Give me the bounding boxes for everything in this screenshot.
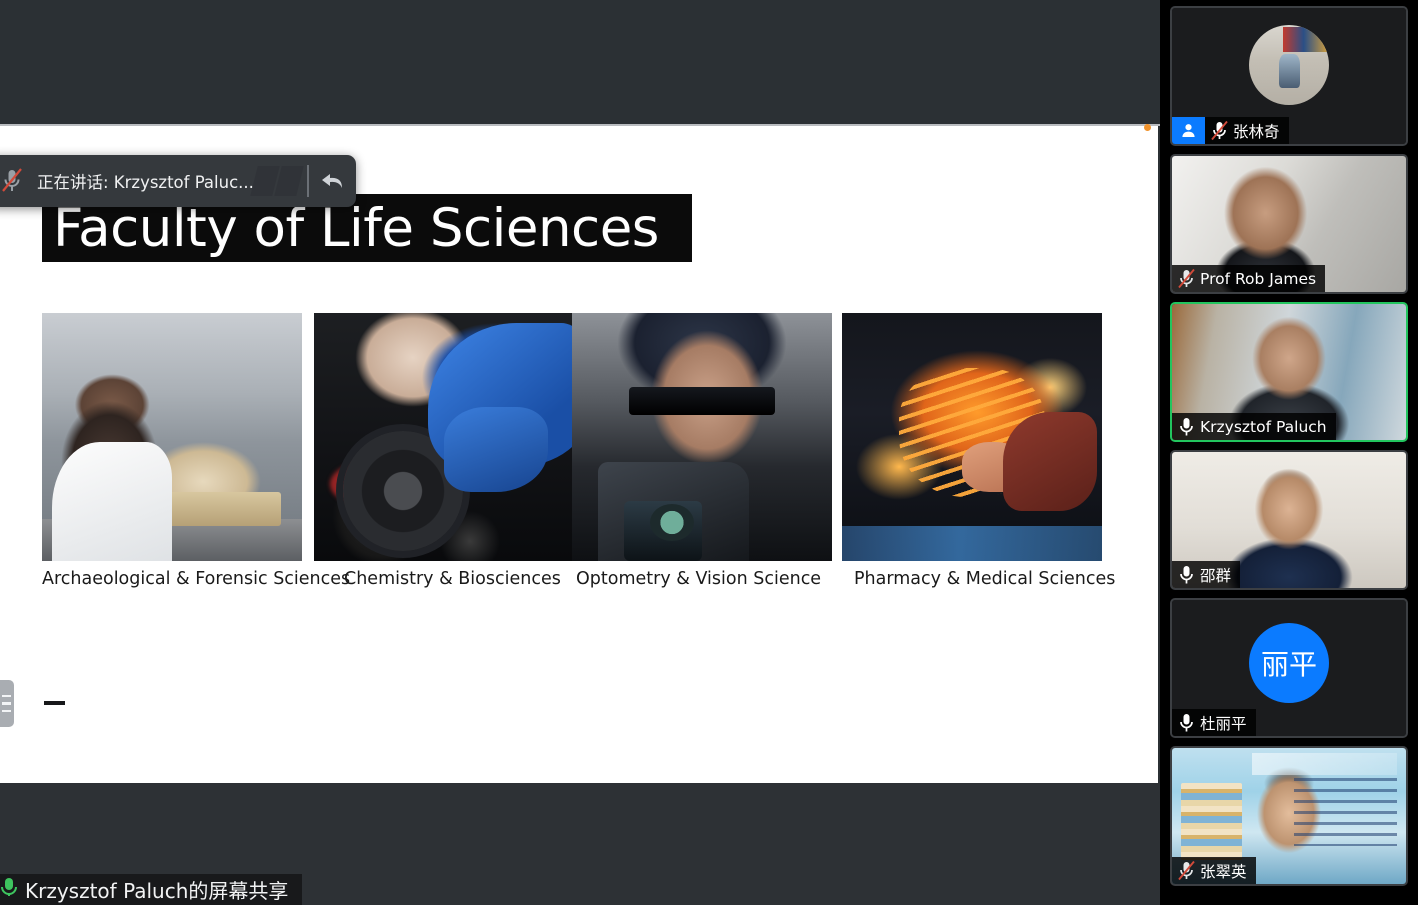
participant-name: Prof Rob James [1200, 270, 1316, 288]
mic-on-icon [1177, 712, 1196, 734]
mic-muted-icon [1177, 860, 1196, 882]
mic-muted-icon [1210, 120, 1229, 142]
zoom-meeting-window: Faculty of Life Sciences [0, 0, 1418, 905]
share-top-edge [0, 124, 1160, 126]
screen-share-label: Krzysztof Paluch的屏幕共享 [25, 875, 288, 904]
participant-name-row: 杜丽平 [1172, 709, 1256, 736]
participant-name-row: 张翠英 [1172, 857, 1256, 884]
participant-name-row: 张林奇 [1205, 117, 1289, 144]
chemistry-photo [314, 313, 574, 561]
avatar: 丽平 [1249, 623, 1329, 703]
share-indicator-dot [1144, 124, 1151, 131]
participant-tile-krzysztof-paluch[interactable]: Krzysztof Paluch [1170, 302, 1408, 442]
caption-chemistry: Chemistry & Biosciences [344, 569, 561, 589]
mic-muted-icon[interactable] [0, 167, 24, 195]
annotation-toolbar-handle[interactable] [0, 680, 14, 727]
presentation-slide: Faculty of Life Sciences [0, 126, 1158, 783]
participant-name-row: Prof Rob James [1172, 265, 1325, 292]
annotation-handle-dash [44, 701, 65, 705]
active-speaker-toolbar[interactable]: 正在讲话: Krzysztof Paluc... [0, 155, 356, 207]
page-title: Faculty of Life Sciences [53, 202, 659, 255]
speaking-label: 正在讲话: Krzysztof Paluc... [37, 169, 254, 193]
participant-name: 张翠英 [1200, 860, 1247, 882]
mic-on-icon [1177, 416, 1196, 438]
shared-content-viewport[interactable]: Faculty of Life Sciences [0, 0, 1160, 783]
participant-filmstrip[interactable]: 张林奇 Prof Rob James [1160, 0, 1418, 905]
optometry-photo [572, 313, 832, 561]
pharmacy-photo [842, 313, 1102, 561]
mic-on-icon [1177, 564, 1196, 586]
participant-name: 杜丽平 [1200, 712, 1247, 734]
participant-tile-prof-rob-james[interactable]: Prof Rob James [1170, 154, 1408, 294]
avatar [1249, 25, 1329, 105]
archaeology-photo [42, 313, 302, 561]
screen-share-status-bar: Krzysztof Paluch的屏幕共享 [0, 874, 302, 905]
shared-screen-region[interactable]: Faculty of Life Sciences [0, 0, 1160, 905]
participant-tile-duliping[interactable]: 丽平 杜丽平 [1170, 598, 1408, 738]
participant-tile-zhanglinqi[interactable]: 张林奇 [1170, 6, 1408, 146]
participant-tile-shaoqun[interactable]: 邵群 [1170, 450, 1408, 590]
participant-name: 张林奇 [1233, 120, 1280, 142]
participant-tile-zhangcuiying[interactable]: 张翠英 [1170, 746, 1408, 886]
caption-pharmacy: Pharmacy & Medical Sciences [854, 569, 1115, 589]
caption-optometry: Optometry & Vision Science [576, 569, 821, 589]
participant-name: 邵群 [1200, 564, 1231, 586]
mic-muted-icon [1177, 268, 1196, 290]
undo-arrow-icon[interactable] [316, 169, 350, 193]
participant-badge-icon [1172, 117, 1205, 144]
participant-name-row: 邵群 [1172, 561, 1240, 588]
caption-archaeology: Archaeological & Forensic Sciences [42, 569, 350, 589]
screen-share-icon [0, 877, 18, 902]
department-photo-row: Archaeological & Forensic Sciences Chemi… [42, 313, 1102, 563]
toolbar-divider [307, 165, 309, 197]
menu-lines-icon [2, 695, 11, 698]
participant-name-row: Krzysztof Paluch [1172, 413, 1336, 440]
participant-name: Krzysztof Paluch [1200, 418, 1327, 436]
